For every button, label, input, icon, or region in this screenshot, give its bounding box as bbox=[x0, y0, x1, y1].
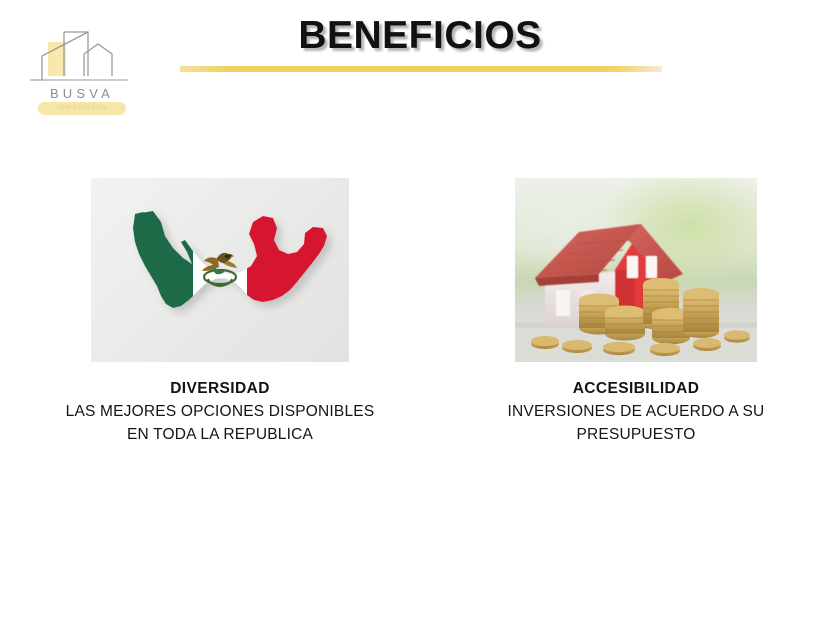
page-title: BENEFICIOS bbox=[0, 14, 840, 58]
benefit-title: DIVERSIDAD bbox=[20, 378, 420, 400]
benefit-body-line-1: INVERSIONES DE ACUERDO A SU bbox=[452, 400, 820, 423]
logo-tagline-band: inmobiliaria bbox=[38, 102, 126, 115]
coat-of-arms-emblem bbox=[202, 253, 237, 286]
mexico-map-flag-image bbox=[91, 178, 349, 362]
benefit-block-accesibilidad: ACCESIBILIDAD INVERSIONES DE ACUERDO A S… bbox=[452, 178, 820, 446]
house-coins-image bbox=[515, 178, 757, 362]
benefit-body-line-2: EN TODA LA REPUBLICA bbox=[20, 423, 420, 446]
logo-wordmark: BUSVA bbox=[28, 86, 132, 102]
benefit-caption-diversidad: DIVERSIDAD LAS MEJORES OPCIONES DISPONIB… bbox=[20, 378, 420, 446]
mexico-map-shape bbox=[91, 178, 349, 362]
benefit-caption-accesibilidad: ACCESIBILIDAD INVERSIONES DE ACUERDO A S… bbox=[452, 378, 820, 446]
benefit-body-line-1: LAS MEJORES OPCIONES DISPONIBLES bbox=[20, 400, 420, 423]
house-and-coins-illustration bbox=[515, 178, 757, 362]
logo-tagline: inmobiliaria bbox=[38, 103, 126, 114]
benefit-title: ACCESIBILIDAD bbox=[452, 378, 820, 400]
title-underline-rule bbox=[180, 66, 662, 72]
coin-stack-2 bbox=[605, 306, 645, 341]
coin-stack-5 bbox=[683, 288, 719, 338]
benefit-body-line-2: PRESUPUESTO bbox=[452, 423, 820, 446]
benefit-block-diversidad: DIVERSIDAD LAS MEJORES OPCIONES DISPONIB… bbox=[20, 178, 420, 446]
